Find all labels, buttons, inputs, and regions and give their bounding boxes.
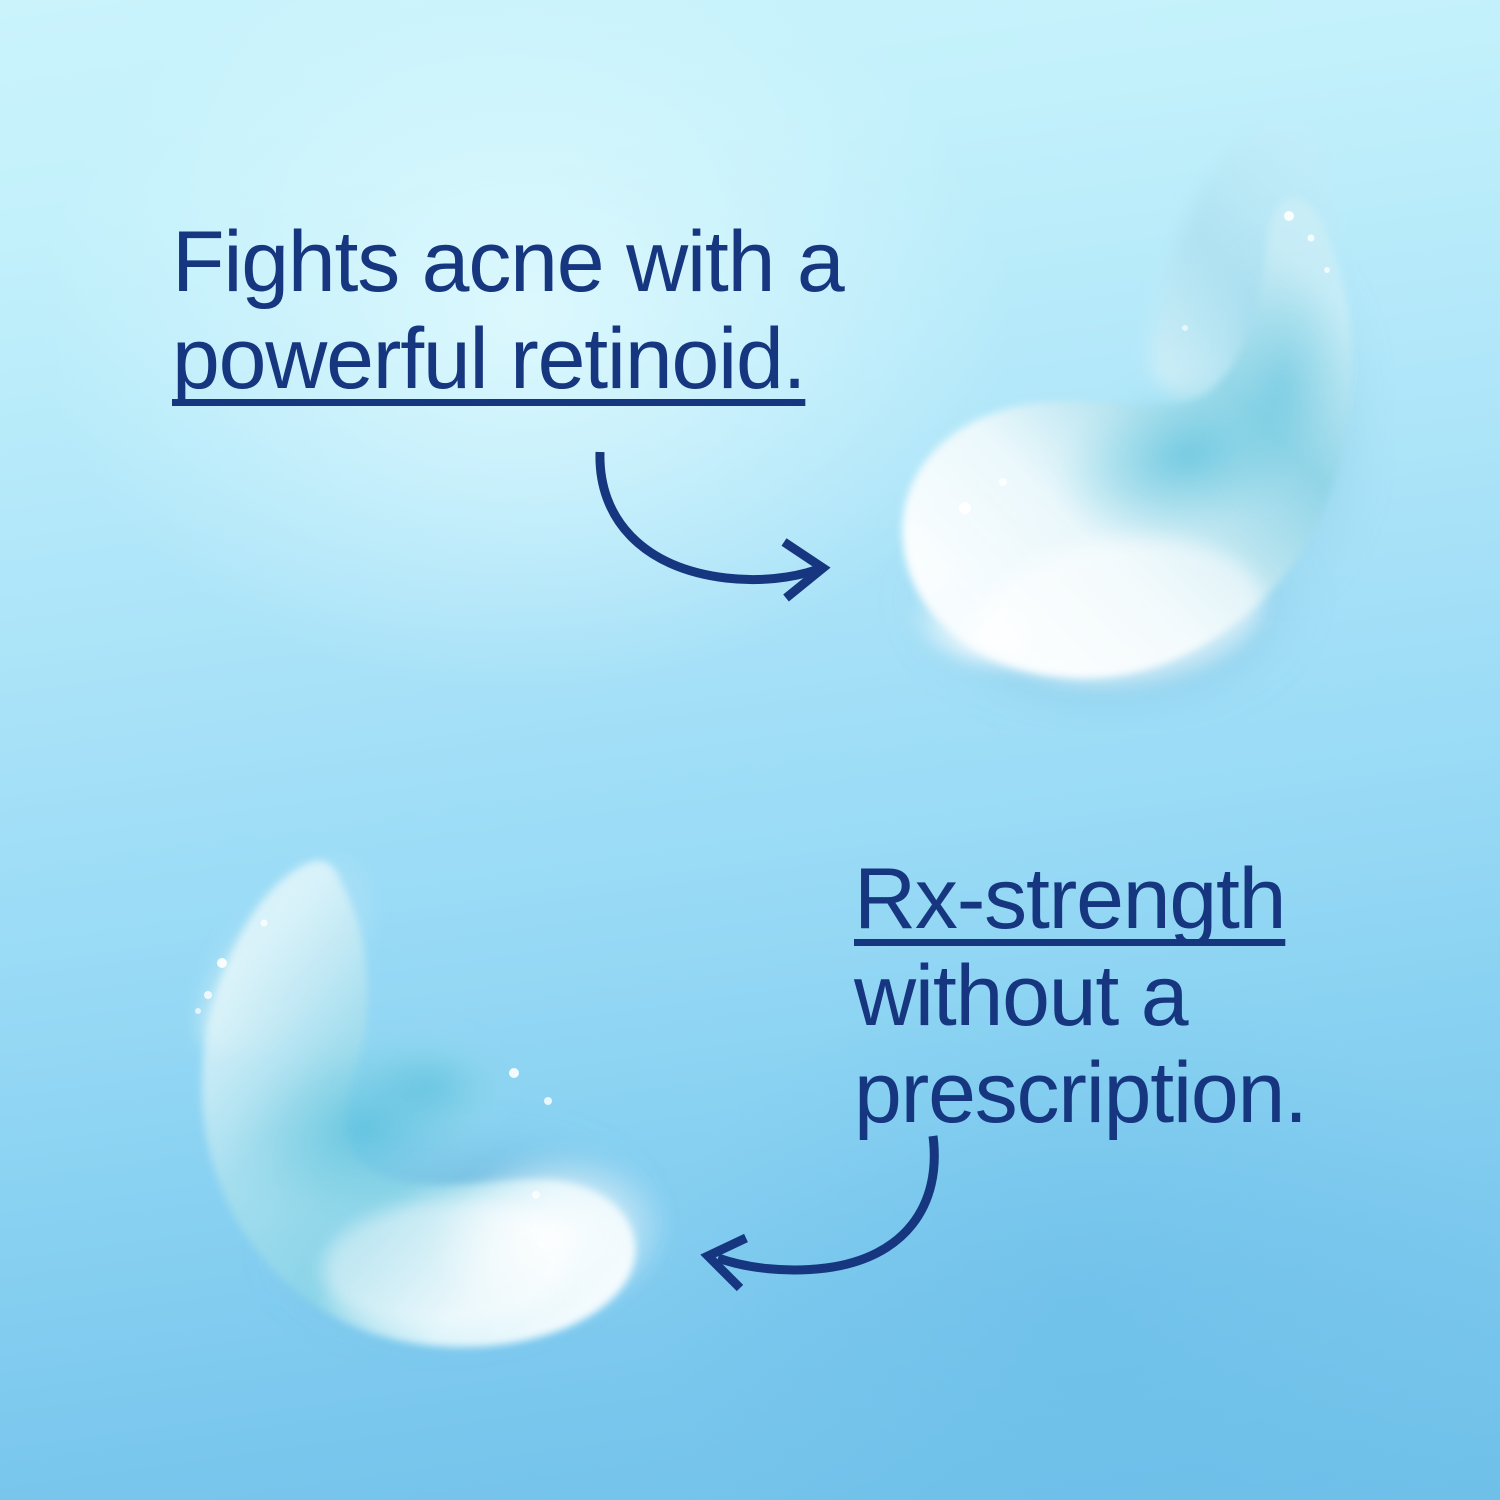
cream-smear-top-right (855, 120, 1395, 730)
background-light-bloom-icon (0, 0, 1200, 840)
headline-top-line-2: powerful retinoid. (172, 311, 844, 408)
headline-bottom-line-3: prescription. (854, 1045, 1307, 1142)
headline-bottom-line-1-underlined: Rx-strength (854, 851, 1285, 947)
headline-top-line-1: Fights acne with a (172, 214, 844, 311)
headline-rx-strength: Rx-strength without a prescription. (854, 851, 1307, 1142)
headline-fights-acne: Fights acne with a powerful retinoid. (172, 214, 844, 408)
curved-arrow-down-right-icon (580, 430, 850, 610)
cream-smear-bottom-left (160, 835, 700, 1375)
headline-bottom-line-2: without a (854, 948, 1307, 1045)
headline-bottom-line-1: Rx-strength (854, 851, 1307, 948)
marketing-graphic-canvas: Fights acne with a powerful retinoid. Rx… (0, 0, 1500, 1500)
headline-top-line-2-underlined: powerful retinoid. (172, 311, 805, 407)
